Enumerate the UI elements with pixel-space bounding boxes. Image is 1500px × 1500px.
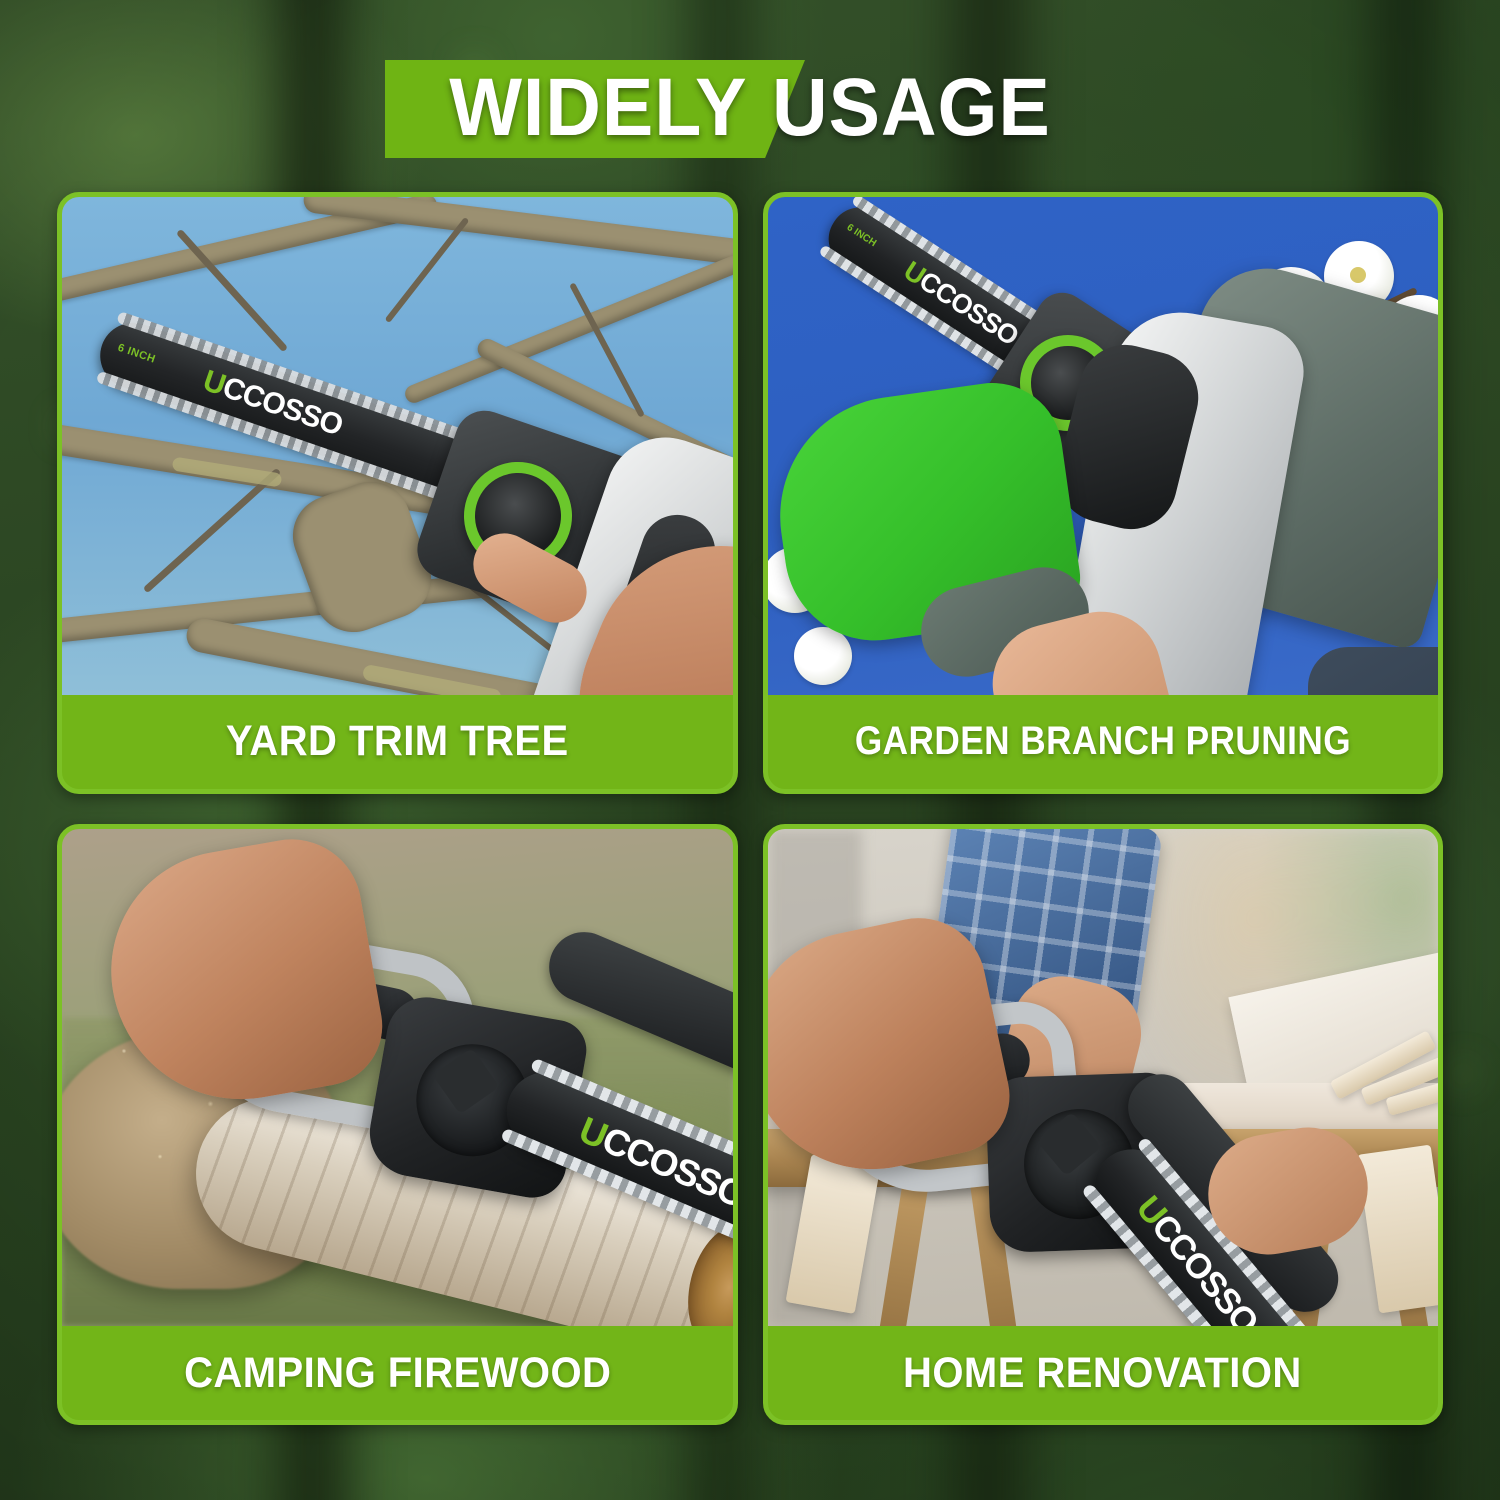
card-caption-text: CAMPING FIREWOOD <box>184 1349 611 1398</box>
page-header: WIDELY USAGE <box>0 52 1500 164</box>
scene-photo-camping-firewood: UCCOSSO 6 INCH <box>62 829 733 1327</box>
card-caption-garden-branch-pruning: GARDEN BRANCH PRUNING <box>768 695 1439 789</box>
card-caption-camping-firewood: CAMPING FIREWOOD <box>62 1326 733 1420</box>
chainsaw-product-image-1: 6 INCH UCCOSSO <box>102 302 733 695</box>
bar-length-label-1: 6 INCH <box>116 342 157 366</box>
card-caption-text: HOME RENOVATION <box>903 1349 1302 1398</box>
card-caption-home-renovation: HOME RENOVATION <box>768 1326 1439 1420</box>
usage-card-grid: 6 INCH UCCOSSO YARD TRIM TREE <box>57 192 1443 1425</box>
chainsaw-product-image-4: UCCOSSO 6 INCH <box>788 899 1428 1327</box>
page-title: WIDELY USAGE <box>45 52 1455 164</box>
chainsaw-product-image-3: UCCOSSO 6 INCH <box>142 889 733 1309</box>
scene-photo-home-renovation: UCCOSSO 6 INCH <box>768 829 1439 1327</box>
usage-card-garden-branch-pruning[interactable]: 6 INCH UCCOSSO GARDEN BRANCH PRUNING <box>763 192 1444 794</box>
usage-card-camping-firewood[interactable]: UCCOSSO 6 INCH CAMPING FIREWOOD <box>57 824 738 1426</box>
usage-card-yard-trim-tree[interactable]: 6 INCH UCCOSSO YARD TRIM TREE <box>57 192 738 794</box>
scene-photo-yard-trim-tree: 6 INCH UCCOSSO <box>62 197 733 695</box>
card-caption-text: GARDEN BRANCH PRUNING <box>855 719 1351 764</box>
page-title-highlight: WIDELY <box>449 61 747 155</box>
page-title-rest: USAGE <box>772 61 1051 155</box>
card-caption-text: YARD TRIM TREE <box>226 717 569 766</box>
scene-photo-garden-branch-pruning: 6 INCH UCCOSSO <box>768 197 1439 695</box>
user-torso-2 <box>1308 647 1439 695</box>
bar-length-label-2: 6 INCH <box>844 222 877 249</box>
usage-card-home-renovation[interactable]: UCCOSSO 6 INCH HOME RENOVATION <box>763 824 1444 1426</box>
card-caption-yard-trim-tree: YARD TRIM TREE <box>62 695 733 789</box>
